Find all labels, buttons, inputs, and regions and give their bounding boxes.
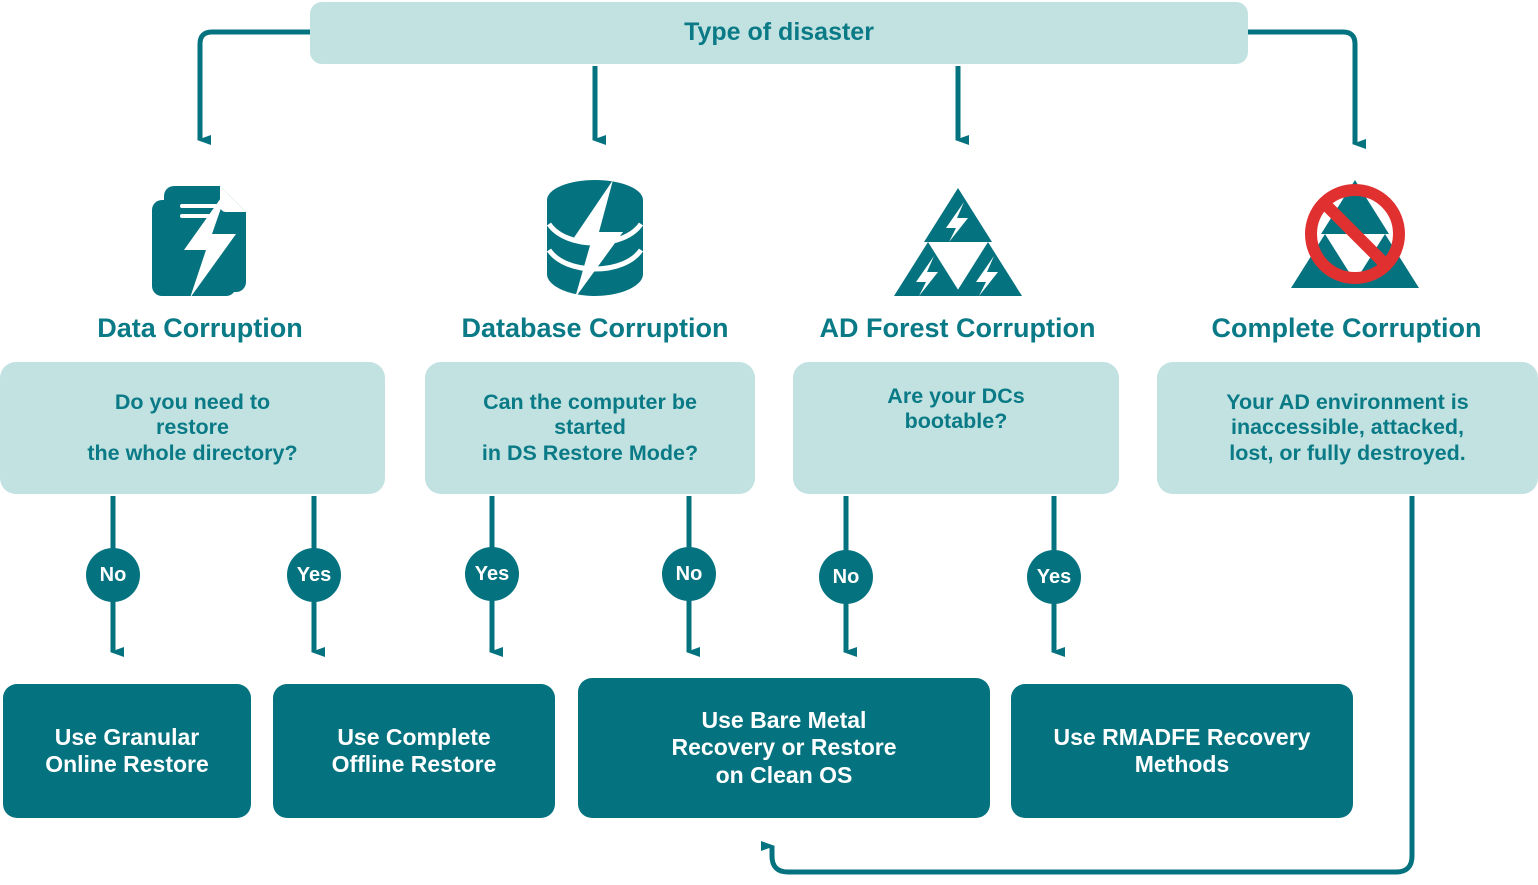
connector-title-to-complete <box>1246 32 1355 144</box>
question-box-data-corruption: Do you need to restore the whole directo… <box>0 362 385 494</box>
title-box: Type of disaster <box>310 2 1248 64</box>
result-box-rmadfe-recovery: Use RMADFE Recovery Methods <box>1011 684 1353 818</box>
result-box-bare-metal-recovery: Use Bare Metal Recovery or Restore on Cl… <box>578 678 990 818</box>
category-label-complete-corruption: Complete Corruption <box>1155 313 1538 344</box>
category-label-database-corruption: Database Corruption <box>420 313 770 344</box>
document-lightning-icon <box>120 178 280 300</box>
database-lightning-icon <box>515 178 675 300</box>
forest-lightning-icon <box>878 178 1038 300</box>
question-box-complete-corruption: Your AD environment is inaccessible, att… <box>1157 362 1538 494</box>
badge-q3-no: No <box>819 550 873 604</box>
connector-title-to-data <box>200 32 312 140</box>
question-box-ad-forest-corruption: Are your DCs bootable? <box>793 362 1119 494</box>
question-box-database-corruption: Can the computer be started in DS Restor… <box>425 362 755 494</box>
badge-q2-yes: Yes <box>465 547 519 601</box>
badge-q1-no: No <box>86 548 140 602</box>
flowchart-canvas: Type of disaster <box>0 0 1538 885</box>
category-label-data-corruption: Data Corruption <box>0 313 400 344</box>
category-label-ad-forest-corruption: AD Forest Corruption <box>790 313 1125 344</box>
result-box-granular-online-restore: Use Granular Online Restore <box>3 684 251 818</box>
badge-q2-no: No <box>662 547 716 601</box>
forest-prohibited-icon <box>1275 178 1435 300</box>
badge-q1-yes: Yes <box>287 548 341 602</box>
result-box-complete-offline-restore: Use Complete Offline Restore <box>273 684 555 818</box>
badge-q3-yes: Yes <box>1027 550 1081 604</box>
